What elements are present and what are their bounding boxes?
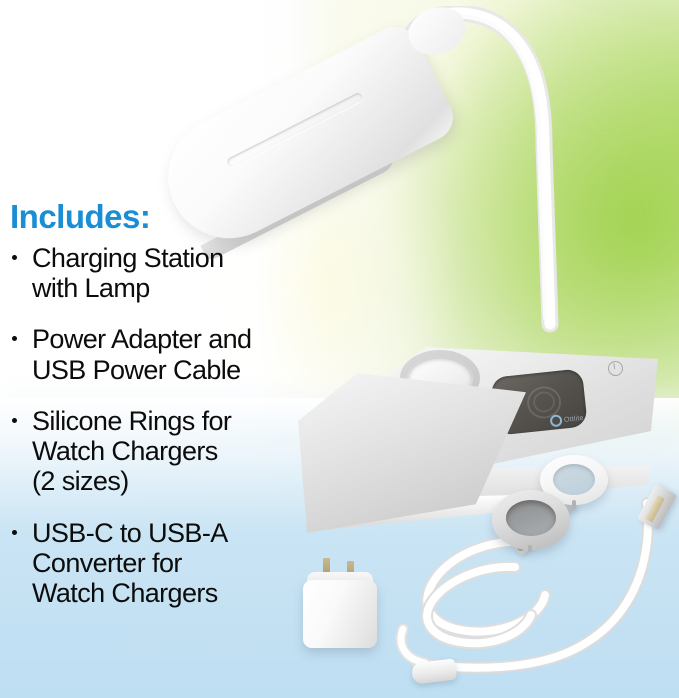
list-item-label: Charging Station with Lamp xyxy=(32,243,340,303)
silicone-ring-white-notch xyxy=(572,500,576,507)
silicone-ring-grey xyxy=(492,490,570,550)
bullet-icon xyxy=(12,530,17,535)
page-title: Includes: xyxy=(10,200,340,233)
bullet-icon xyxy=(12,255,17,260)
silicone-ring-grey-notch xyxy=(528,545,532,552)
list-item: USB-C to USB-A Converter for Watch Charg… xyxy=(10,518,340,609)
brand-logo-text: Ottlite xyxy=(564,414,584,423)
bullet-icon xyxy=(12,336,17,341)
list-item-label: USB-C to USB-A Converter for Watch Charg… xyxy=(32,518,340,609)
list-item-label: Power Adapter and USB Power Cable xyxy=(32,324,340,384)
list-item: Charging Station with Lamp xyxy=(10,243,340,303)
silicone-ring-grey-hole xyxy=(506,500,556,536)
product-image-canvas: Ottlite xyxy=(0,0,679,698)
list-item-label: Silicone Rings for Watch Chargers (2 siz… xyxy=(32,406,340,497)
list-item: Silicone Rings for Watch Chargers (2 siz… xyxy=(10,406,340,497)
feature-list: Charging Station with Lamp Power Adapter… xyxy=(10,243,340,608)
includes-panel: Includes: Charging Station with Lamp Pow… xyxy=(10,200,340,629)
brand-logo-mark-icon xyxy=(549,414,562,427)
bullet-icon xyxy=(12,418,17,423)
list-item: Power Adapter and USB Power Cable xyxy=(10,324,340,384)
